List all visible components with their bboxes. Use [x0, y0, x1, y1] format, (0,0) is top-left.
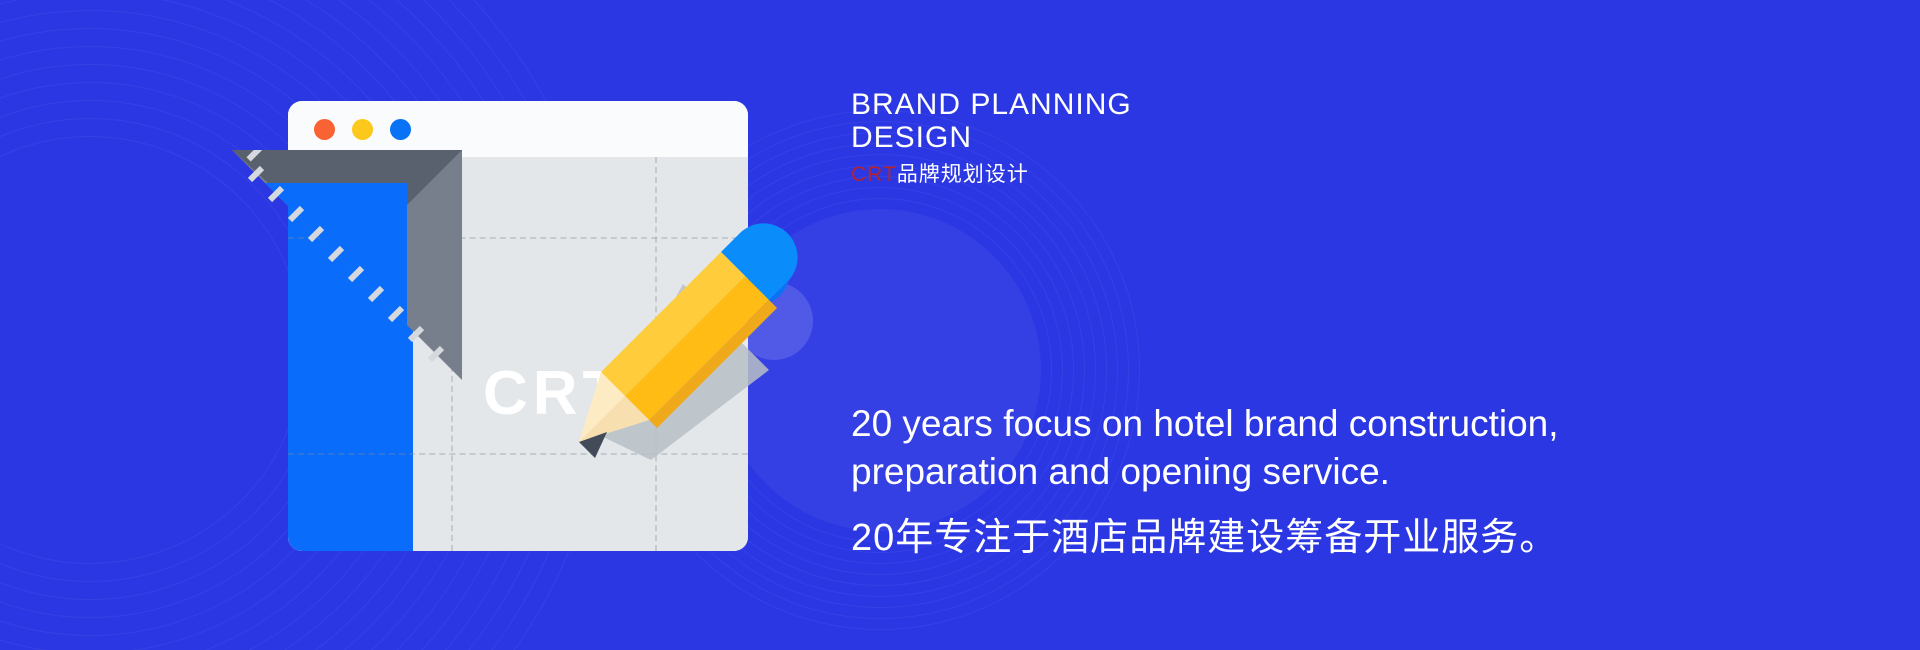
eyebrow-line-2: DESIGN [851, 121, 1471, 154]
eyebrow-block: BRAND PLANNING DESIGN CRT品牌规划设计 [851, 88, 1471, 188]
browser-titlebar [288, 101, 748, 157]
window-minimize-dot-icon[interactable] [352, 119, 373, 140]
promo-banner: CRT [0, 0, 1920, 650]
triangle-ruler-icon [232, 150, 462, 380]
pencil-icon [555, 222, 815, 482]
window-maximize-dot-icon[interactable] [390, 119, 411, 140]
headline-en-line-2: preparation and opening service. [851, 448, 1681, 496]
eyebrow-brand-mark: CRT [851, 163, 897, 186]
headline-chinese: 20年专注于酒店品牌建设筹备开业服务。 [851, 514, 1681, 562]
eyebrow-line-1: BRAND PLANNING [851, 88, 1471, 121]
headline-block: 20 years focus on hotel brand constructi… [851, 400, 1681, 562]
banner-copy: BRAND PLANNING DESIGN CRT品牌规划设计 20 years… [851, 0, 1851, 650]
eyebrow-chinese-text: 品牌规划设计 [897, 163, 1029, 186]
brand-design-illustration: CRT [0, 0, 900, 650]
window-close-dot-icon[interactable] [314, 119, 335, 140]
headline-en-line-1: 20 years focus on hotel brand constructi… [851, 400, 1681, 448]
eyebrow-chinese-line: CRT品牌规划设计 [851, 162, 1471, 188]
